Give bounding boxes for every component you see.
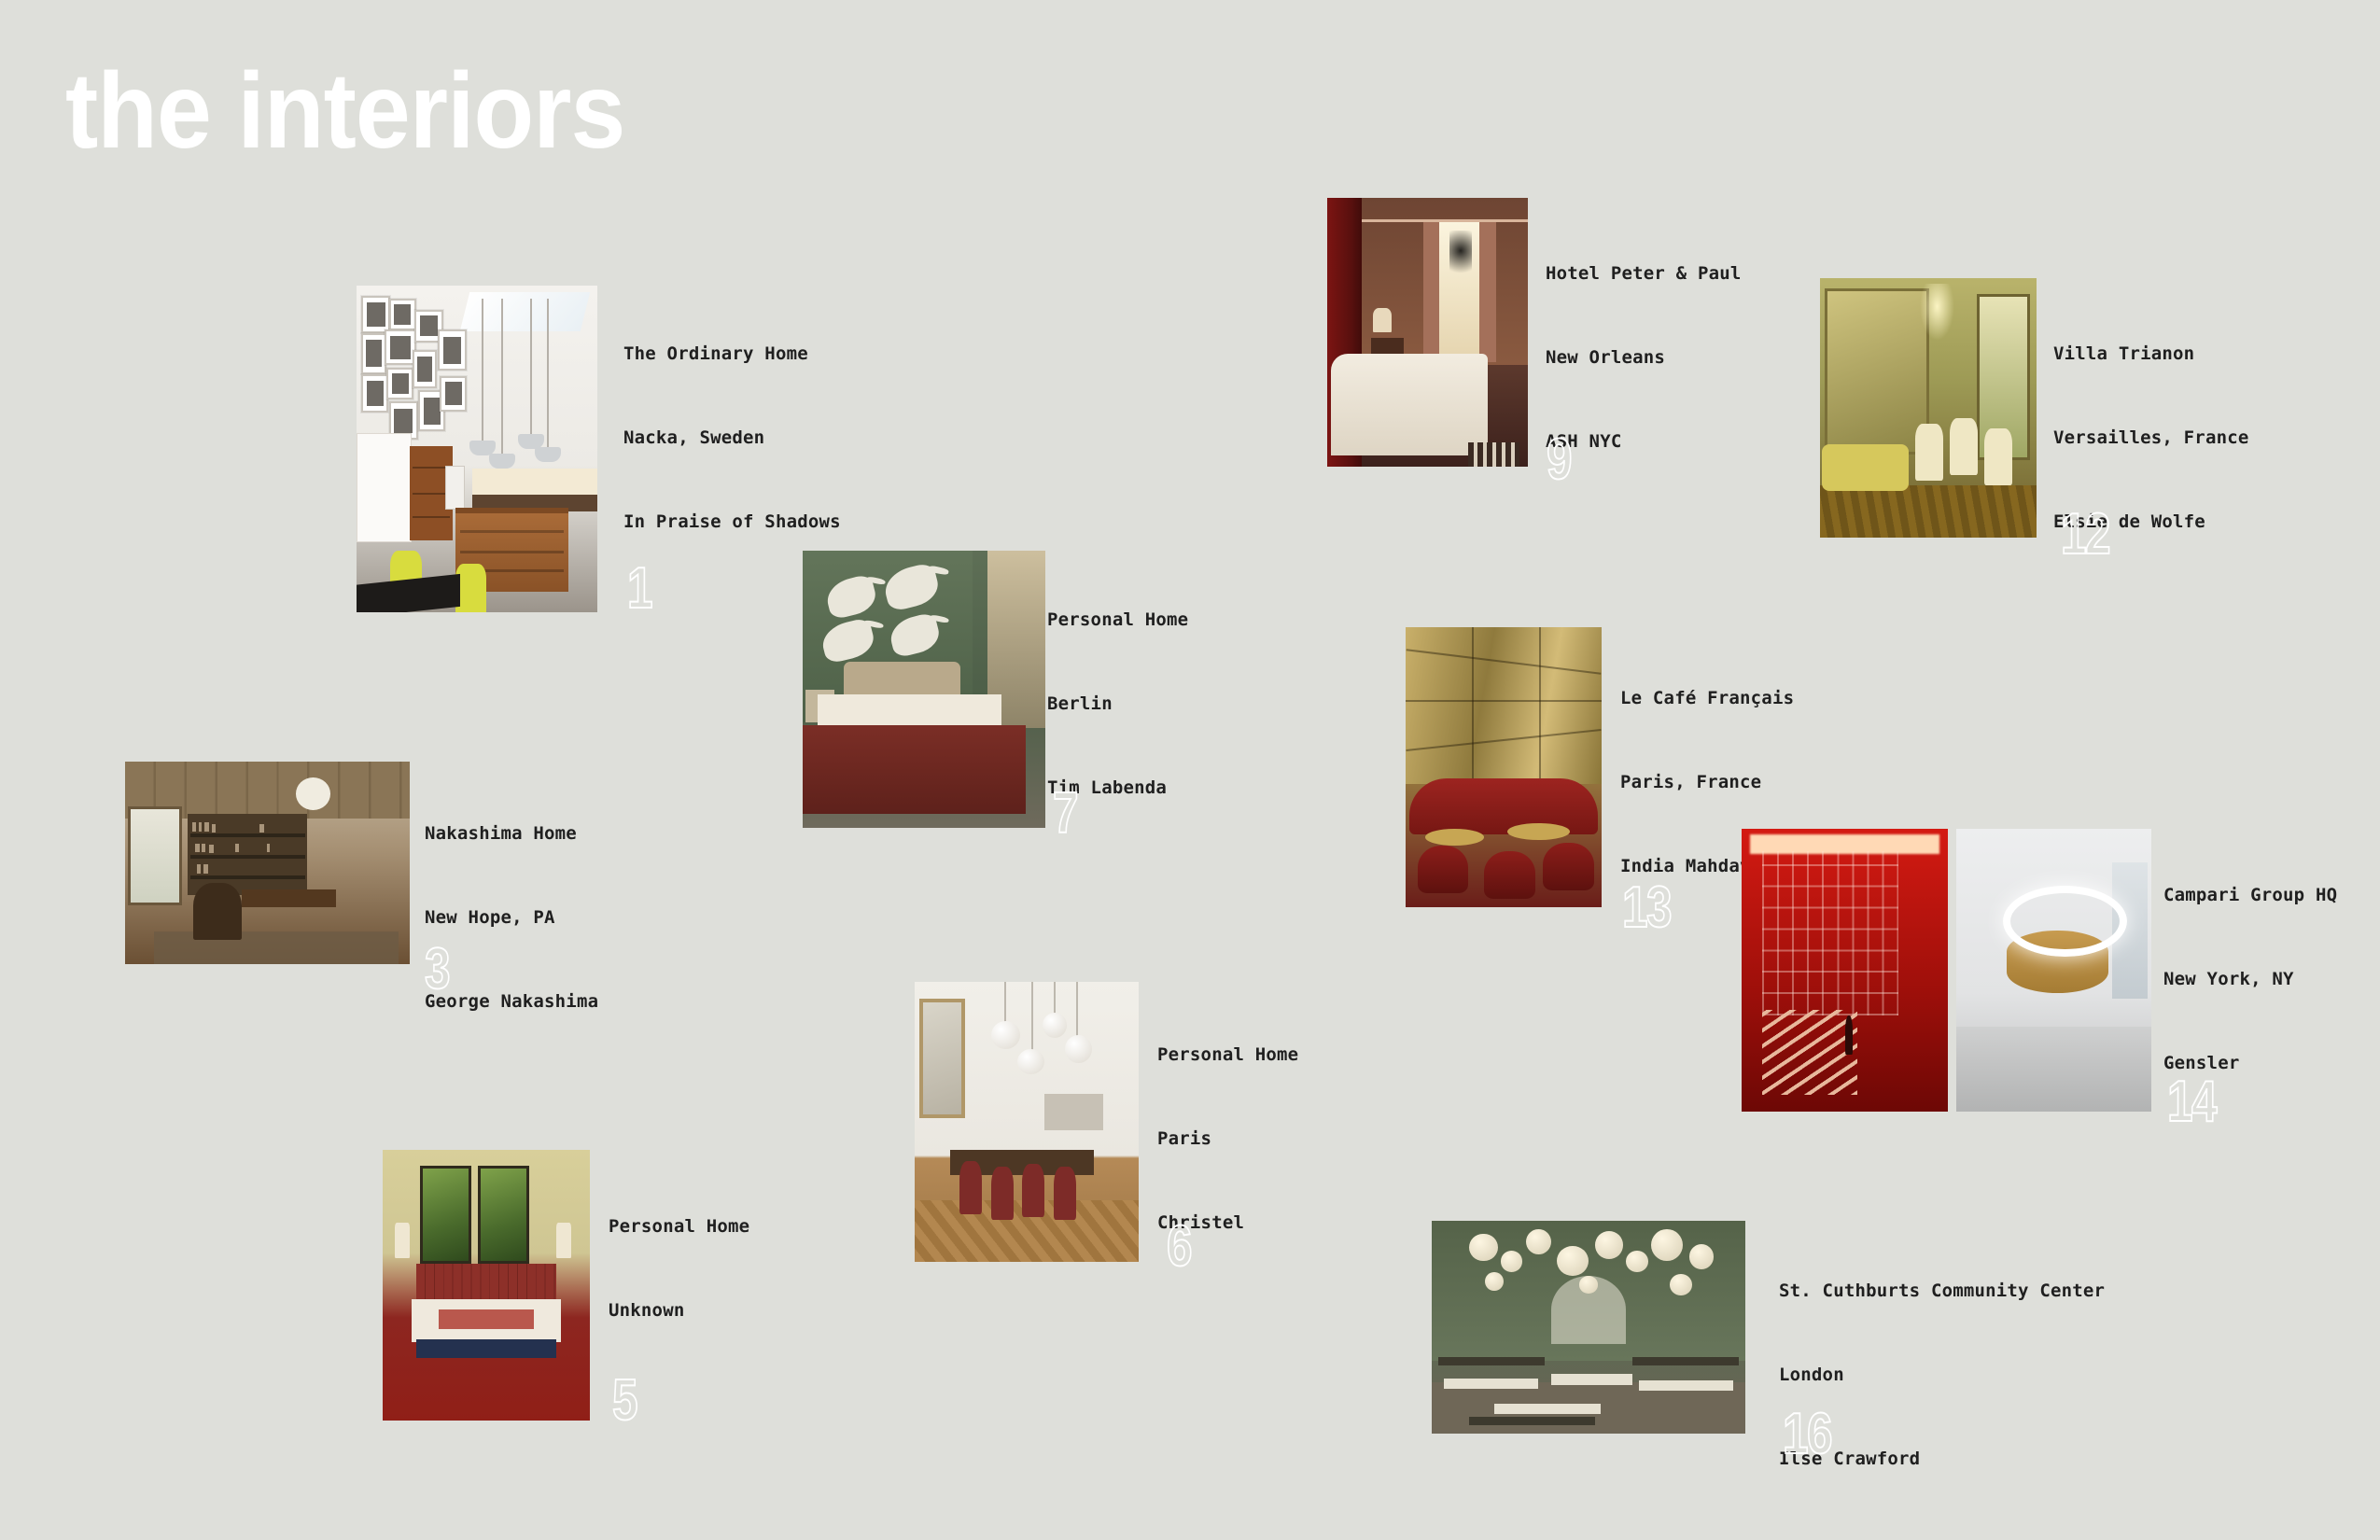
index-number-7: 7 [1053,785,1077,843]
caption-line-title: Villa Trianon [2053,340,2249,368]
caption-hotel-peter-and-paul: Hotel Peter & Paul New Orleans ASH NYC [1546,203,1742,511]
caption-line-title: Nakashima Home [425,819,598,847]
index-number-13: 13 [1622,879,1671,937]
caption-line-title: Personal Home [609,1212,749,1240]
caption-line-title: Le Café Français [1620,684,1794,712]
caption-line-location: Berlin [1047,690,1188,718]
photo-hotel-peter-and-paul[interactable] [1327,198,1528,467]
page-title: the interiors [65,58,624,165]
moodboard-canvas: the interiors [0,0,2380,1540]
index-number-12: 12 [2061,506,2109,564]
caption-line-author: In Praise of Shadows [623,508,841,536]
caption-line-location: New York, NY [2163,965,2337,993]
caption-line-title: Personal Home [1047,606,1188,634]
index-number-16: 16 [1783,1406,1831,1463]
photo-villa-trianon[interactable] [1820,278,2037,538]
photo-nakashima-home[interactable] [125,762,410,964]
photo-le-cafe-francais[interactable] [1406,627,1602,907]
caption-line-location: Versailles, France [2053,424,2249,452]
caption-st-cuthburts-community-center: St. Cuthburts Community Center London Il… [1779,1221,2105,1529]
photo-personal-home-unknown[interactable] [383,1150,590,1421]
index-number-3: 3 [425,941,449,999]
index-number-9: 9 [1547,431,1571,489]
caption-line-location: Unknown [609,1296,749,1324]
photo-campari-group-hq-reception[interactable] [1956,829,2151,1112]
index-number-1: 1 [627,560,651,618]
index-number-5: 5 [612,1372,637,1430]
caption-line-title: Hotel Peter & Paul [1546,259,1742,287]
index-number-14: 14 [2167,1073,2216,1131]
caption-line-title: Campari Group HQ [2163,881,2337,909]
caption-line-location: New Orleans [1546,343,1742,371]
photo-personal-home-berlin[interactable] [803,551,1045,828]
photo-the-ordinary-home[interactable] [357,286,597,612]
photo-campari-group-hq-red[interactable] [1742,829,1948,1112]
caption-line-title: The Ordinary Home [623,340,841,368]
caption-line-title: St. Cuthburts Community Center [1779,1277,2105,1305]
photo-st-cuthburts-community-center[interactable] [1432,1221,1745,1434]
caption-personal-home-unknown: Personal Home Unknown [609,1156,749,1380]
caption-nakashima-home: Nakashima Home New Hope, PA George Nakas… [425,763,598,1071]
caption-the-ordinary-home: The Ordinary Home Nacka, Sweden In Prais… [623,284,841,592]
caption-line-author: George Nakashima [425,987,598,1015]
caption-line-location: Paris, France [1620,768,1794,796]
caption-line-location: New Hope, PA [425,903,598,931]
index-number-6: 6 [1167,1218,1191,1276]
caption-line-location: London [1779,1361,2105,1389]
caption-line-location: Nacka, Sweden [623,424,841,452]
photo-personal-home-paris[interactable] [915,982,1139,1262]
caption-line-title: Personal Home [1157,1041,1298,1069]
caption-line-location: Paris [1157,1125,1298,1153]
caption-line-author: ASH NYC [1546,427,1742,455]
